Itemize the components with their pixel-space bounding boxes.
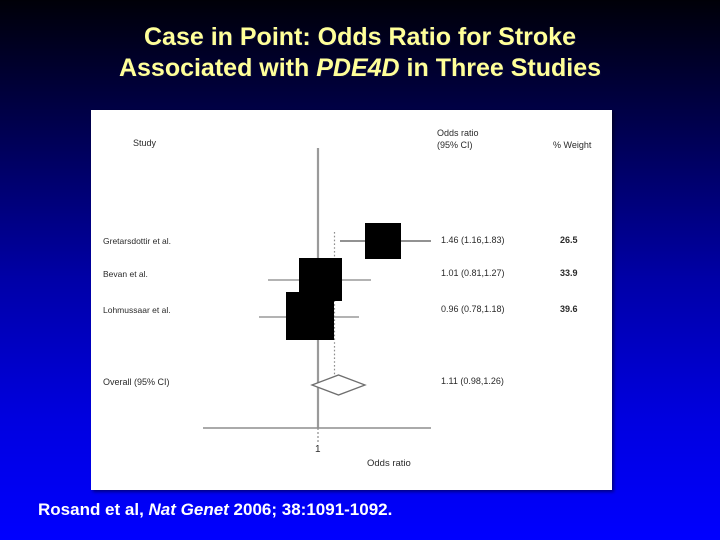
slide-title-line-2-prefix: Associated with bbox=[119, 54, 316, 82]
study-effect-marker bbox=[365, 223, 401, 259]
slide-title-line-2: Associated with PDE4D in Three Studies bbox=[0, 53, 720, 84]
study-effect-marker bbox=[286, 292, 334, 340]
slide-title-gene-name: PDE4D bbox=[316, 54, 399, 82]
citation-details: 2006; 38:1091-1092. bbox=[229, 500, 393, 519]
forest-plot-panel: Study Odds ratio (95% CI) % Weight Greta… bbox=[91, 110, 612, 490]
citation-authors: Rosand et al, bbox=[38, 500, 149, 519]
citation-text: Rosand et al, Nat Genet 2006; 38:1091-10… bbox=[38, 500, 392, 520]
forest-plot-graphics bbox=[91, 110, 612, 490]
overall-summary-diamond bbox=[312, 375, 365, 395]
slide-title-line-2-suffix: in Three Studies bbox=[400, 54, 601, 82]
slide-title-line-1: Case in Point: Odds Ratio for Stroke bbox=[0, 22, 720, 53]
citation-journal: Nat Genet bbox=[149, 500, 229, 519]
slide-title: Case in Point: Odds Ratio for Stroke Ass… bbox=[0, 22, 720, 84]
